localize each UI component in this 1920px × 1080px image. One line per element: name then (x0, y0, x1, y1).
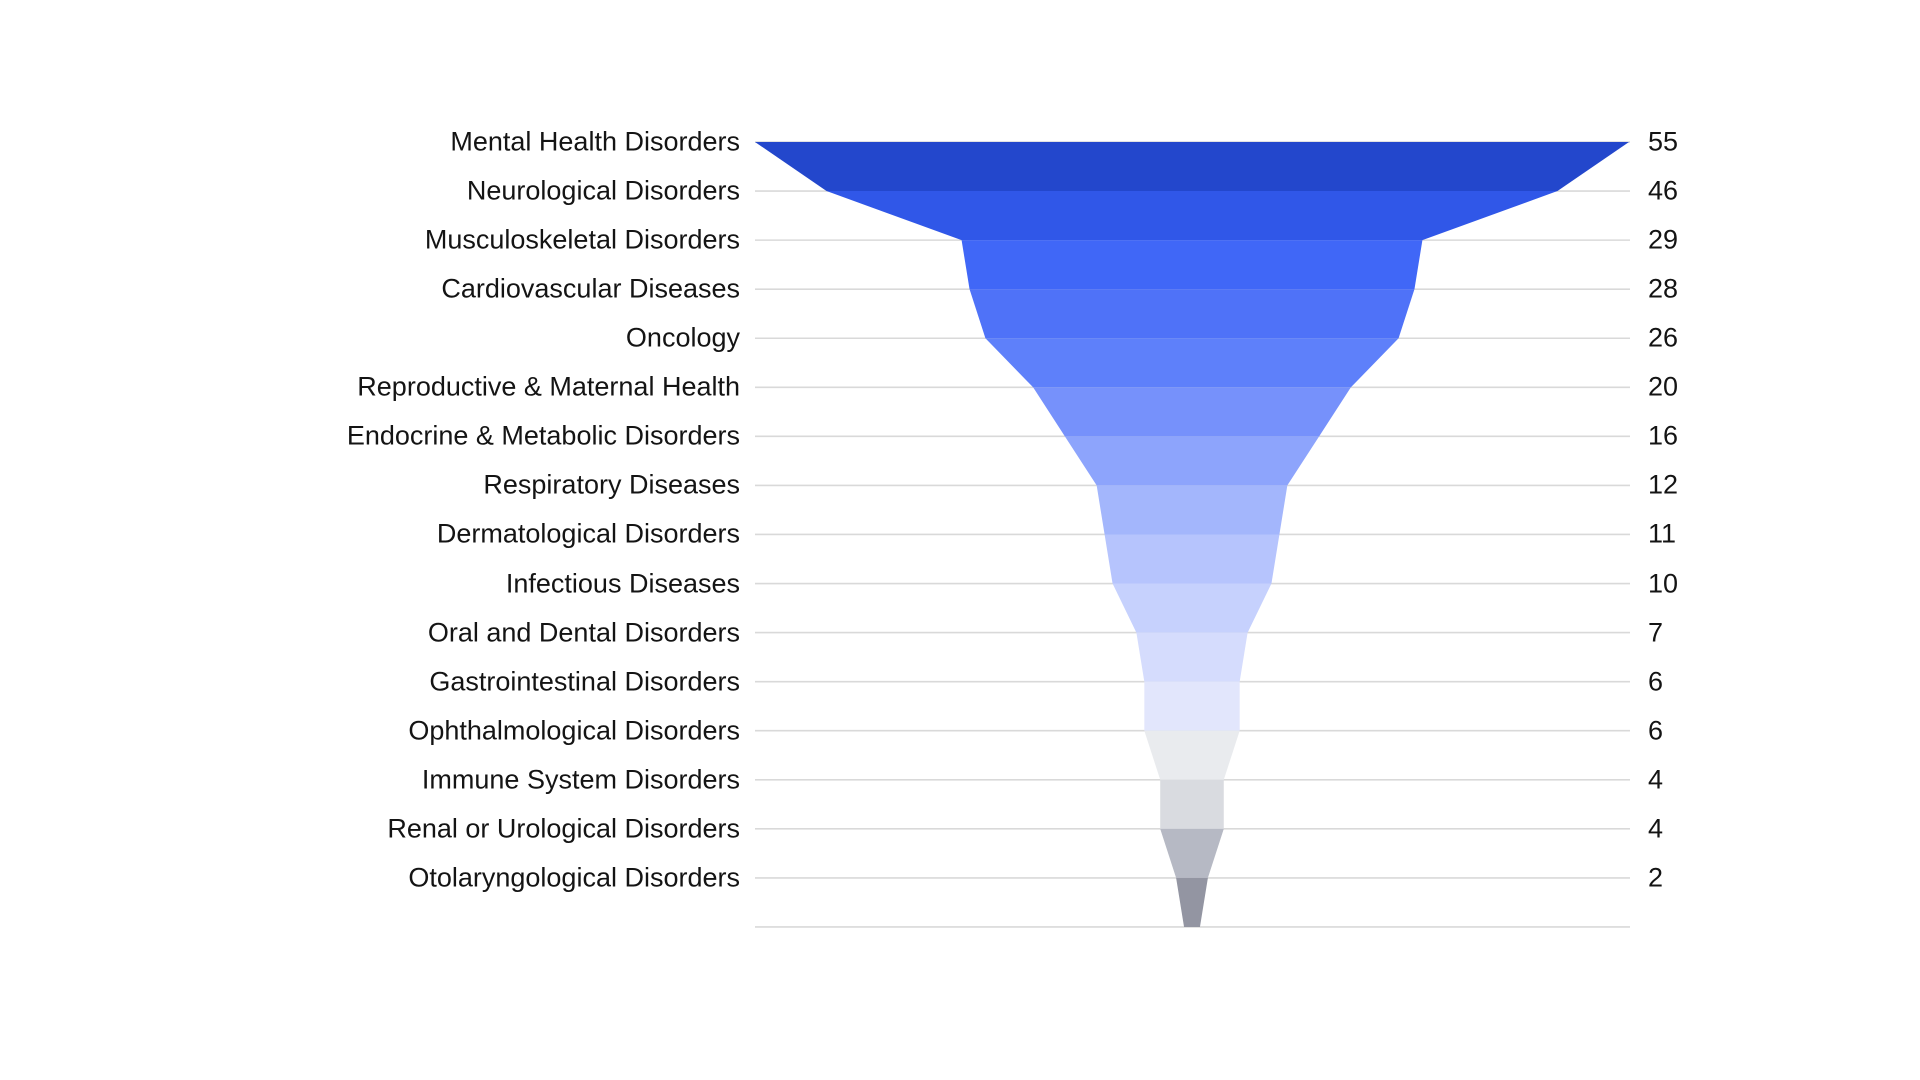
stage-label: Musculoskeletal Disorders (425, 227, 740, 254)
funnel-band[interactable] (1105, 534, 1280, 583)
funnel-band[interactable] (1176, 878, 1208, 927)
funnel-band[interactable] (1033, 387, 1351, 436)
funnel-band[interactable] (970, 289, 1415, 338)
funnel-band[interactable] (985, 338, 1398, 387)
funnel-band[interactable] (1160, 829, 1224, 878)
funnel-band[interactable] (962, 240, 1423, 289)
stage-value: 29 (1648, 227, 1678, 254)
stage-value: 16 (1648, 423, 1678, 450)
stage-value: 10 (1648, 570, 1678, 597)
stage-label: Ophthalmological Disorders (408, 717, 740, 744)
stage-label: Dermatological Disorders (437, 521, 740, 548)
stage-value: 26 (1648, 325, 1678, 352)
stage-value: 4 (1648, 766, 1663, 793)
stage-value: 2 (1648, 864, 1663, 891)
funnel-band[interactable] (1136, 633, 1247, 682)
stage-value: 6 (1648, 668, 1663, 695)
stage-label: Immune System Disorders (422, 766, 740, 793)
funnel-chart: Mental Health DisordersNeurological Diso… (0, 0, 1920, 1080)
funnel-band[interactable] (1144, 682, 1239, 731)
stage-label: Reproductive & Maternal Health (357, 374, 740, 401)
stage-value: 12 (1648, 472, 1678, 499)
funnel-band[interactable] (827, 191, 1558, 240)
stage-value: 7 (1648, 619, 1663, 646)
stage-label: Neurological Disorders (467, 178, 740, 205)
stage-label: Gastrointestinal Disorders (429, 668, 740, 695)
funnel-band[interactable] (1160, 780, 1224, 829)
stage-value: 6 (1648, 717, 1663, 744)
stage-value: 46 (1648, 178, 1678, 205)
funnel-band[interactable] (755, 142, 1629, 191)
stage-value: 55 (1648, 129, 1678, 156)
stage-label: Mental Health Disorders (450, 129, 740, 156)
stage-label: Renal or Urological Disorders (387, 815, 740, 842)
funnel-band[interactable] (1097, 485, 1288, 534)
stage-label: Oral and Dental Disorders (428, 619, 740, 646)
stage-label: Otolaryngological Disorders (408, 864, 740, 891)
stage-label: Oncology (626, 325, 740, 352)
stage-value: 11 (1648, 521, 1676, 548)
stage-value: 20 (1648, 374, 1678, 401)
funnel-chart-canvas (0, 0, 1920, 1080)
funnel-band[interactable] (1065, 436, 1319, 485)
stage-value: 28 (1648, 276, 1678, 303)
stage-label: Respiratory Diseases (483, 472, 740, 499)
funnel-band[interactable] (1144, 731, 1239, 780)
stage-label: Endocrine & Metabolic Disorders (347, 423, 740, 450)
stage-label: Cardiovascular Diseases (441, 276, 740, 303)
stage-value: 4 (1648, 815, 1663, 842)
stage-label: Infectious Diseases (506, 570, 740, 597)
funnel-band[interactable] (1113, 584, 1272, 633)
